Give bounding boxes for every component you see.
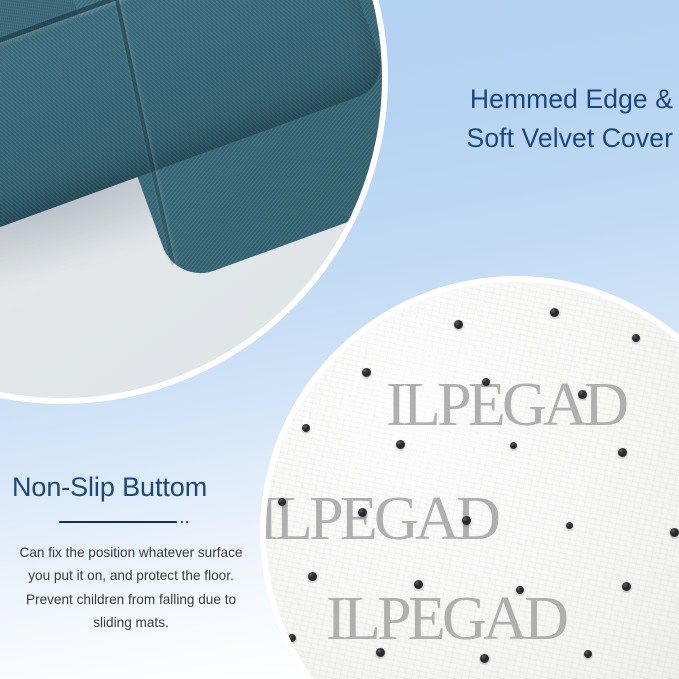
feature-block-non-slip: Non-Slip Buttom Can fix the position wha… <box>6 472 256 635</box>
mat-silicone-dot <box>480 654 489 663</box>
mat-silicone-dot <box>550 308 559 317</box>
mat-silicone-dot <box>308 572 317 581</box>
mat-silicone-dot <box>362 368 371 377</box>
mat-silicone-dot <box>288 634 296 642</box>
mat-photo-surface: ILPEGAD ILPEGAD ILPEGAD <box>266 282 679 679</box>
mat-silicone-dot <box>358 508 367 517</box>
description-line-3: Prevent children from falling due to <box>6 588 256 611</box>
mat-silicone-dot <box>670 528 679 537</box>
description-line-1: Can fix the position whatever surface <box>6 541 256 564</box>
mat-silicone-dot <box>482 378 490 386</box>
mat-silicone-dot <box>510 442 517 449</box>
non-slip-mat-photo: ILPEGAD ILPEGAD ILPEGAD <box>266 282 679 679</box>
mat-silicone-dot <box>376 648 385 657</box>
divider-dot <box>186 521 188 523</box>
mat-silicone-dot <box>278 498 286 506</box>
feature-headline-hemmed-edge: Hemmed Edge & Soft Velvet Cover <box>253 80 673 158</box>
mat-silicone-dot <box>622 582 631 591</box>
divider-bar <box>59 521 177 523</box>
mat-watermark-logo: ILPEGAD <box>386 370 625 441</box>
mat-silicone-dot <box>302 424 310 432</box>
mat-silicone-dot <box>414 580 423 589</box>
mat-watermark-logo: ILPEGAD <box>326 584 565 655</box>
feature-title-non-slip: Non-Slip Buttom <box>12 472 256 503</box>
mat-silicone-dot <box>462 516 471 525</box>
description-line-2: you put it on, and protect the floor. <box>6 564 256 587</box>
mat-silicone-dot <box>454 320 463 329</box>
description-line-4: sliding mats. <box>6 611 256 634</box>
product-feature-image: ILPEGAD ILPEGAD ILPEGAD Hemmed Edge & So… <box>0 0 679 679</box>
headline-line-2: Soft Velvet Cover <box>253 119 673 158</box>
mat-silicone-dot <box>584 650 592 658</box>
feature-description-non-slip: Can fix the position whatever surface yo… <box>6 541 256 635</box>
title-divider <box>6 516 256 530</box>
mat-silicone-dot <box>578 390 587 399</box>
mat-silicone-dot <box>632 334 640 342</box>
headline-line-1: Hemmed Edge & <box>253 80 673 119</box>
mat-silicone-dot <box>516 586 524 594</box>
mat-silicone-dot <box>566 522 573 529</box>
mat-silicone-dot <box>396 440 405 449</box>
mat-silicone-dot <box>618 448 627 457</box>
divider-dot <box>181 521 183 523</box>
